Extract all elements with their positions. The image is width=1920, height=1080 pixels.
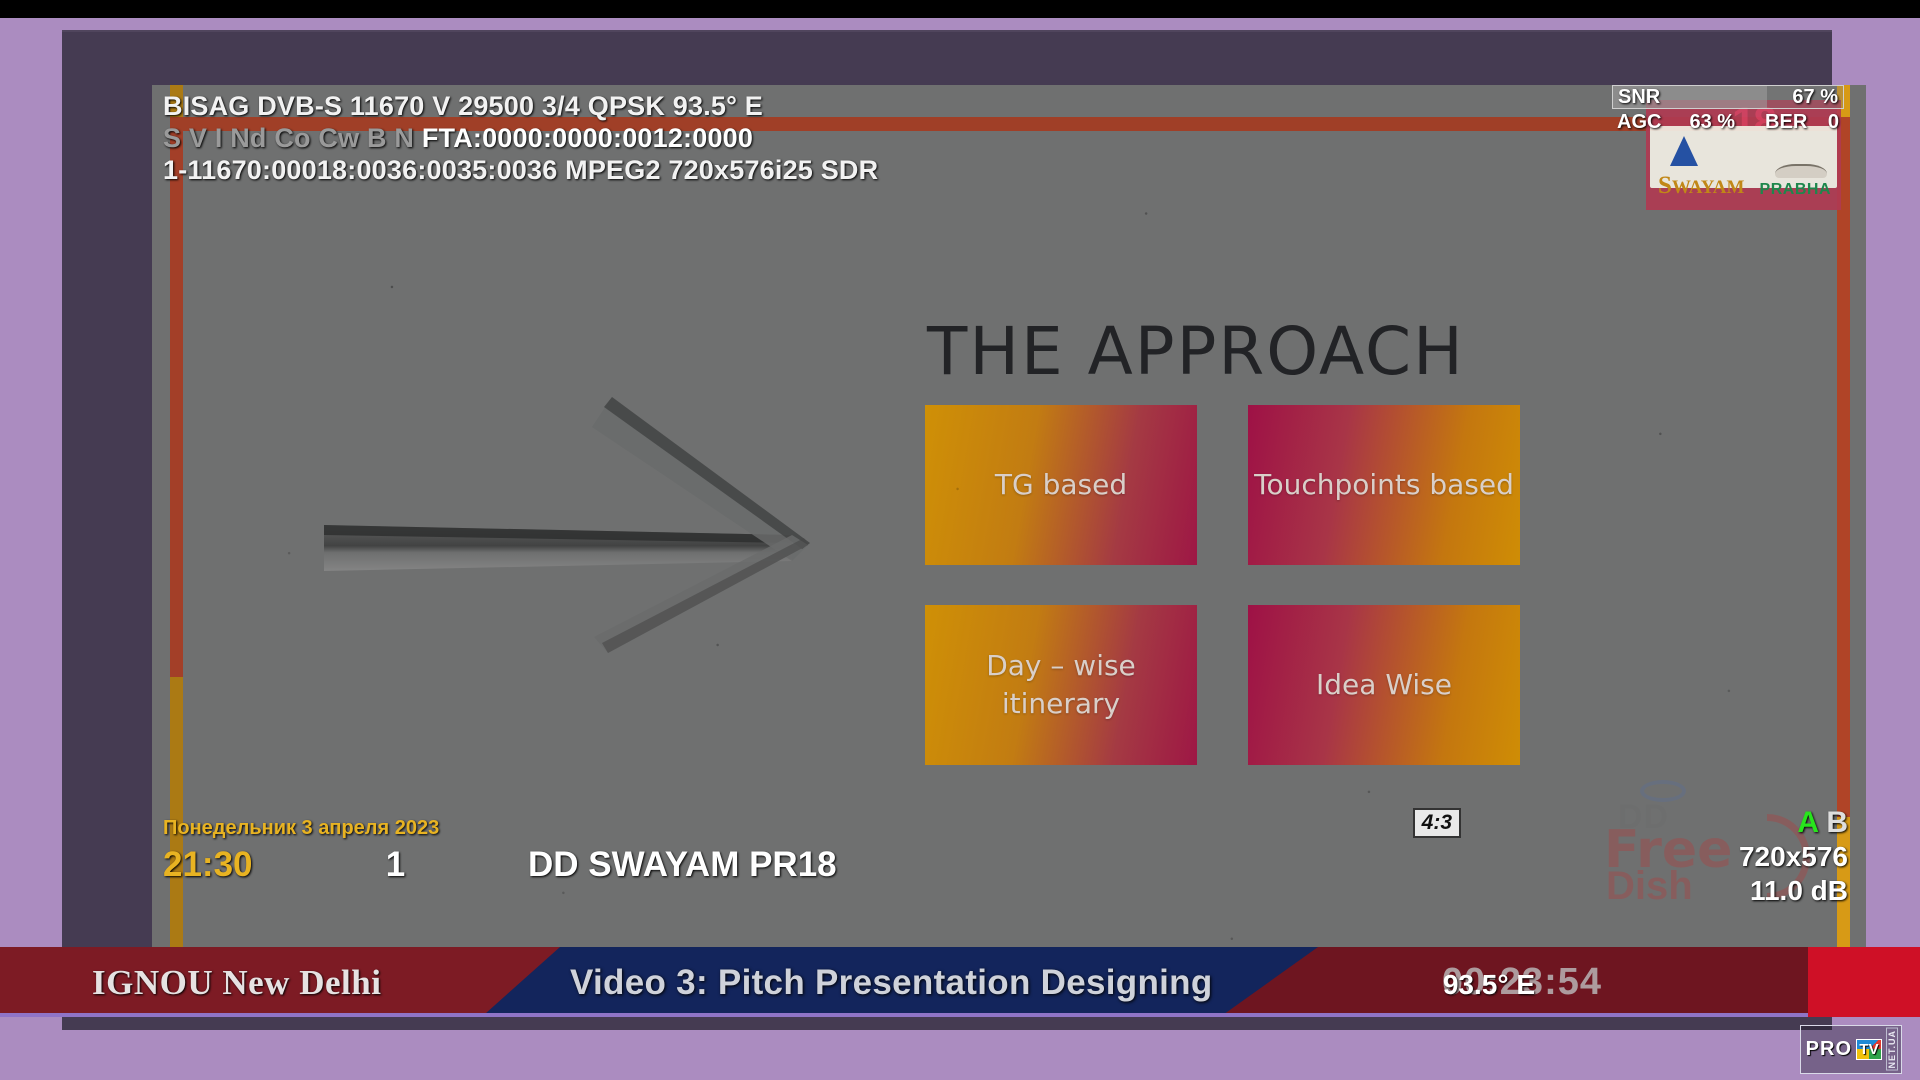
aspect-ratio-badge: 4:3 [1413, 808, 1461, 838]
approach-card-label: TG based [995, 466, 1127, 504]
logo-book-icon [1775, 164, 1827, 178]
snr-meter: SNR 67 % [1612, 85, 1844, 109]
approach-card[interactable]: Idea Wise [1248, 605, 1520, 765]
orbital-position-overlay: 93.5° E [1443, 969, 1535, 1001]
approach-card-grid: TG based Touchpoints based Day – wise it… [925, 405, 1520, 765]
osd-right-bar-red [1837, 117, 1850, 817]
slide-title: THE APPROACH [927, 313, 1465, 390]
snr-value: 67 % [1792, 86, 1838, 109]
channel-number: 1 [348, 845, 443, 885]
signal-strength-db: 11.0 dB [1588, 874, 1848, 908]
banner-bottom-rule [0, 1013, 1920, 1017]
approach-card-label: Touchpoints based [1254, 466, 1514, 504]
banner-video-title: Video 3: Pitch Presentation Designing [570, 963, 1213, 1003]
programme-banner: IGNOU New Delhi Video 3: Pitch Presentat… [0, 947, 1920, 1017]
current-time: 21:30 [163, 845, 348, 885]
stream-pid-line: 1-11670:00018:0036:0035:0036 MPEG2 720x5… [163, 154, 878, 186]
audio-track-a[interactable]: A [1797, 806, 1818, 839]
approach-card[interactable]: Day – wise itinerary [925, 605, 1197, 765]
video-frame-border: THE APPROACH [62, 30, 1832, 1030]
stream-flags-active: FTA:0000:0000:0012:0000 [422, 123, 753, 153]
approach-card-label: Idea Wise [1316, 666, 1452, 704]
channel-name: DD SWAYAM PR18 [528, 845, 837, 885]
protv-watermark: PRO TV NET.UA [1800, 1025, 1902, 1074]
logo-brand-second: PRABHA [1760, 181, 1831, 199]
logo-triangle-icon [1670, 136, 1698, 166]
protv-pro-text: PRO [1804, 1038, 1854, 1061]
protv-site-text: NET.UA [1886, 1028, 1898, 1071]
snr-label: SNR [1618, 86, 1660, 109]
audio-track-b[interactable]: B [1826, 806, 1848, 839]
ber-label: BER [1765, 111, 1807, 134]
osd-left-bar-red [170, 117, 183, 677]
tv-screen-icon: TV [1856, 1039, 1882, 1060]
agc-value: 63 % [1689, 111, 1735, 134]
video-canvas[interactable]: THE APPROACH [152, 85, 1866, 1003]
video-stats-overlay: A B 720x576 11.0 dB [1588, 806, 1848, 908]
banner-red-tab [1808, 947, 1920, 1017]
approach-card-label: Day – wise itinerary [925, 647, 1197, 723]
now-playing-overlay: Понедельник 3 апреля 2023 21:30 1 DD SWA… [163, 817, 837, 885]
current-date: Понедельник 3 апреля 2023 [163, 817, 837, 840]
ber-value: 0 [1828, 111, 1839, 134]
agc-ber-row: AGC 63 % BER 0 [1612, 109, 1844, 135]
video-resolution: 720x576 [1588, 840, 1848, 874]
receiver-window: THE APPROACH [0, 0, 1920, 1080]
logo-brand-name: SWAYAM [1658, 172, 1744, 200]
approach-card[interactable]: TG based [925, 405, 1197, 565]
protv-tv-text: TV [1857, 1040, 1881, 1059]
signal-meter-panel: SNR 67 % AGC 63 % BER 0 [1612, 85, 1844, 135]
approach-card[interactable]: Touchpoints based [1248, 405, 1520, 565]
agc-label: AGC [1617, 111, 1661, 134]
banner-organisation: IGNOU New Delhi [92, 963, 381, 1003]
stream-flags-inactive: S V I Nd Co Cw B N [163, 123, 414, 153]
arrow-graphic [322, 385, 832, 685]
stream-info-overlay: BISAG DVB-S 11670 V 29500 3/4 QPSK 93.5°… [163, 90, 878, 186]
audio-track-indicator: A B [1588, 806, 1848, 840]
stream-flags-line: S V I Nd Co Cw B N FTA:0000:0000:0012:00… [163, 122, 878, 154]
stream-tuning-line: BISAG DVB-S 11670 V 29500 3/4 QPSK 93.5°… [163, 90, 878, 122]
now-playing-row: 21:30 1 DD SWAYAM PR18 [163, 845, 837, 885]
